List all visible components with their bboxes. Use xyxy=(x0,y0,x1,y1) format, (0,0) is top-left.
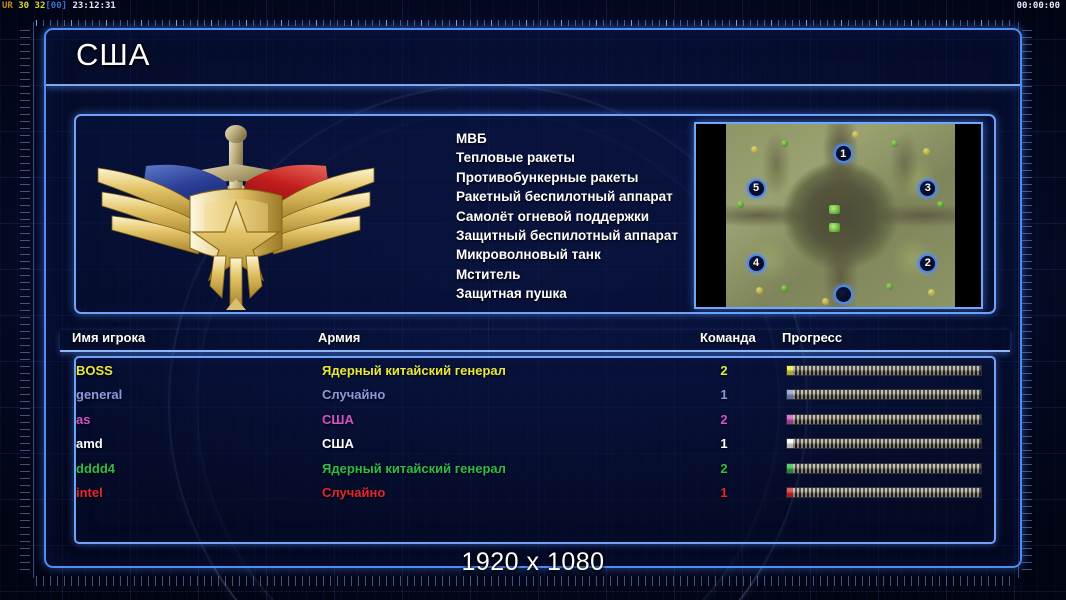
player-team: 1 xyxy=(704,485,744,500)
map-start-position[interactable]: 1 xyxy=(834,144,853,163)
column-header-team: Команда xyxy=(700,330,756,345)
player-progress-bar xyxy=(786,463,982,474)
map-start-position[interactable]: 5 xyxy=(747,179,766,198)
column-header-army: Армия xyxy=(318,330,360,345)
table-row[interactable]: asСША2 xyxy=(76,407,994,432)
player-team: 2 xyxy=(704,412,744,427)
faction-info-panel: МВБТепловые ракетыПротивобункерные ракет… xyxy=(74,114,996,314)
progress-gloss xyxy=(787,366,981,375)
map-tree xyxy=(781,285,788,292)
progress-gloss xyxy=(787,488,981,497)
performance-hud: UR 30 32[00] 23:12:31 xyxy=(2,1,116,11)
clock-hud: 00:00:00 xyxy=(1017,1,1060,11)
progress-gloss xyxy=(787,390,981,399)
column-header-name: Имя игрока xyxy=(72,330,145,345)
resolution-overlay: 1920 x 1080 xyxy=(0,548,1066,577)
map-terrain: 15342 xyxy=(726,124,955,307)
unit-list-item: Защитная пушка xyxy=(456,284,678,303)
progress-gloss xyxy=(787,464,981,473)
unit-list-item: Ракетный беспилотный аппарат xyxy=(456,187,678,206)
usa-eagle-emblem-icon xyxy=(86,120,386,312)
main-window-panel: США xyxy=(44,28,1022,568)
map-supply-depot xyxy=(829,205,840,214)
progress-gloss xyxy=(787,415,981,424)
frame-line-left xyxy=(33,22,34,578)
table-row[interactable]: BOSSЯдерный китайский генерал2 xyxy=(76,358,994,383)
player-progress-bar xyxy=(786,414,982,425)
perf-bracket: [00] xyxy=(45,1,67,11)
player-progress-bar xyxy=(786,365,982,376)
unit-list-item: Самолёт огневой поддержки xyxy=(456,207,678,226)
unit-list-item: Тепловые ракеты xyxy=(456,148,678,167)
perf-time: 23:12:31 xyxy=(72,1,115,11)
page-title: США xyxy=(76,37,150,73)
ruler-left xyxy=(20,30,30,570)
player-army: Ядерный китайский генерал xyxy=(322,461,682,476)
perf-limit: 32 xyxy=(35,1,46,11)
screen-root: UR 30 32[00] 23:12:31 00:00:00 США xyxy=(0,0,1066,600)
perf-prefix: UR xyxy=(2,1,13,11)
table-row[interactable]: intelСлучайно1 xyxy=(76,481,994,506)
player-army: Случайно xyxy=(322,387,682,402)
map-supply-depot xyxy=(829,223,840,232)
map-tree xyxy=(923,148,930,155)
table-row[interactable]: amdСША1 xyxy=(76,432,994,457)
progress-gloss xyxy=(787,439,981,448)
player-team: 2 xyxy=(704,363,744,378)
column-header-progress: Прогресс xyxy=(782,330,842,345)
player-team: 1 xyxy=(704,387,744,402)
player-name: intel xyxy=(76,485,316,500)
map-preview[interactable]: 15342 xyxy=(694,122,983,309)
unit-list-item: Защитный беспилотный аппарат xyxy=(456,226,678,245)
title-bar: США xyxy=(46,30,1020,86)
player-progress-bar xyxy=(786,438,982,449)
player-table-body: BOSSЯдерный китайский генерал2generalСлу… xyxy=(74,356,996,544)
player-name: dddd4 xyxy=(76,461,316,476)
perf-fps: 30 xyxy=(18,1,29,11)
unit-list-item: Микроволновый танк xyxy=(456,245,678,264)
unit-list-item: МВБ xyxy=(456,129,678,148)
player-team: 1 xyxy=(704,436,744,451)
unit-list-item: Мститель xyxy=(456,265,678,284)
player-army: Ядерный китайский генерал xyxy=(322,363,682,378)
ruler-top xyxy=(36,16,1014,26)
player-name: as xyxy=(76,412,316,427)
map-tree xyxy=(756,287,763,294)
unit-list: МВБТепловые ракетыПротивобункерные ракет… xyxy=(456,129,678,304)
table-row[interactable]: dddd4Ядерный китайский генерал2 xyxy=(76,456,994,481)
player-name: BOSS xyxy=(76,363,316,378)
player-name: general xyxy=(76,387,316,402)
map-start-position[interactable]: 4 xyxy=(747,254,766,273)
player-name: amd xyxy=(76,436,316,451)
map-start-position[interactable] xyxy=(834,285,853,304)
map-tree xyxy=(928,289,935,296)
map-tree xyxy=(822,298,829,305)
player-army: США xyxy=(322,436,682,451)
player-progress-bar xyxy=(786,487,982,498)
unit-list-item: Противобункерные ракеты xyxy=(456,168,678,187)
player-progress-bar xyxy=(786,389,982,400)
map-tree xyxy=(937,201,944,208)
player-army: Случайно xyxy=(322,485,682,500)
player-table-header: Имя игрока Армия Команда Прогресс xyxy=(60,330,1010,352)
ruler-bottom xyxy=(36,576,1014,586)
table-row[interactable]: generalСлучайно1 xyxy=(76,383,994,408)
ruler-right xyxy=(1022,30,1032,570)
player-army: США xyxy=(322,412,682,427)
player-team: 2 xyxy=(704,461,744,476)
